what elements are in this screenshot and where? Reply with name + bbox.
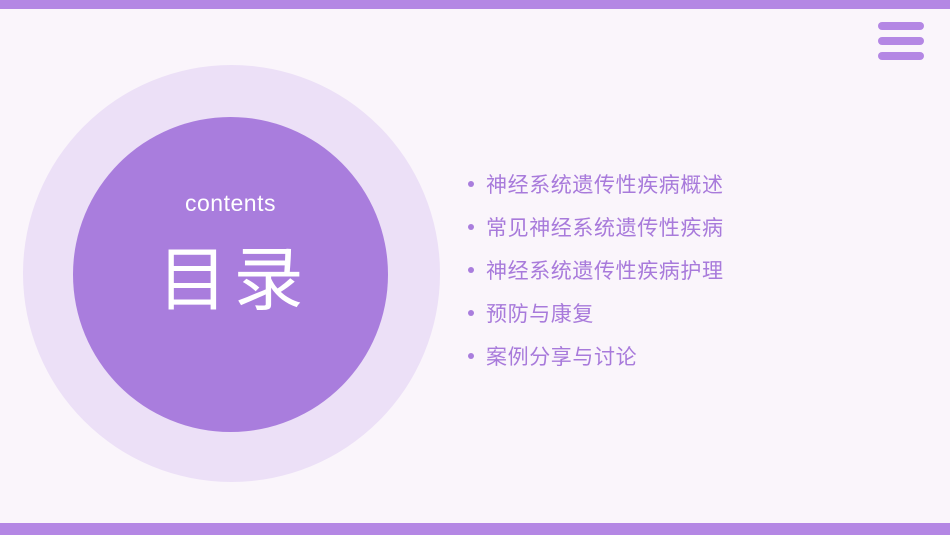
bullet-icon: [468, 267, 486, 273]
list-item[interactable]: 案例分享与讨论: [468, 334, 898, 377]
bullet-icon: [468, 181, 486, 187]
list-item[interactable]: 神经系统遗传性疾病护理: [468, 248, 898, 291]
agenda-item-label: 案例分享与讨论: [486, 341, 637, 371]
hamburger-bar-top: [878, 22, 924, 30]
agenda-item-label: 常见神经系统遗传性疾病: [486, 212, 724, 242]
hamburger-menu-icon[interactable]: [878, 22, 924, 60]
agenda-list: 神经系统遗传性疾病概述 常见神经系统遗传性疾病 神经系统遗传性疾病护理 预防与康…: [468, 162, 898, 377]
agenda-item-label: 预防与康复: [486, 298, 594, 328]
list-item[interactable]: 预防与康复: [468, 291, 898, 334]
contents-circle: contents 目录: [73, 117, 388, 432]
agenda-item-label: 神经系统遗传性疾病概述: [486, 169, 724, 199]
agenda-item-label: 神经系统遗传性疾病护理: [486, 255, 724, 285]
hamburger-bar-bottom: [878, 52, 924, 60]
bullet-icon: [468, 224, 486, 230]
bottom-accent-bar: [0, 523, 950, 535]
list-item[interactable]: 神经系统遗传性疾病概述: [468, 162, 898, 205]
bullet-icon: [468, 353, 486, 359]
contents-english-label: contents: [73, 192, 388, 215]
hamburger-bar-middle: [878, 37, 924, 45]
presentation-slide: contents 目录 神经系统遗传性疾病概述 常见神经系统遗传性疾病 神经系统…: [0, 0, 950, 535]
top-accent-bar: [0, 0, 950, 9]
bullet-icon: [468, 310, 486, 316]
contents-chinese-label: 目录: [73, 245, 388, 315]
list-item[interactable]: 常见神经系统遗传性疾病: [468, 205, 898, 248]
